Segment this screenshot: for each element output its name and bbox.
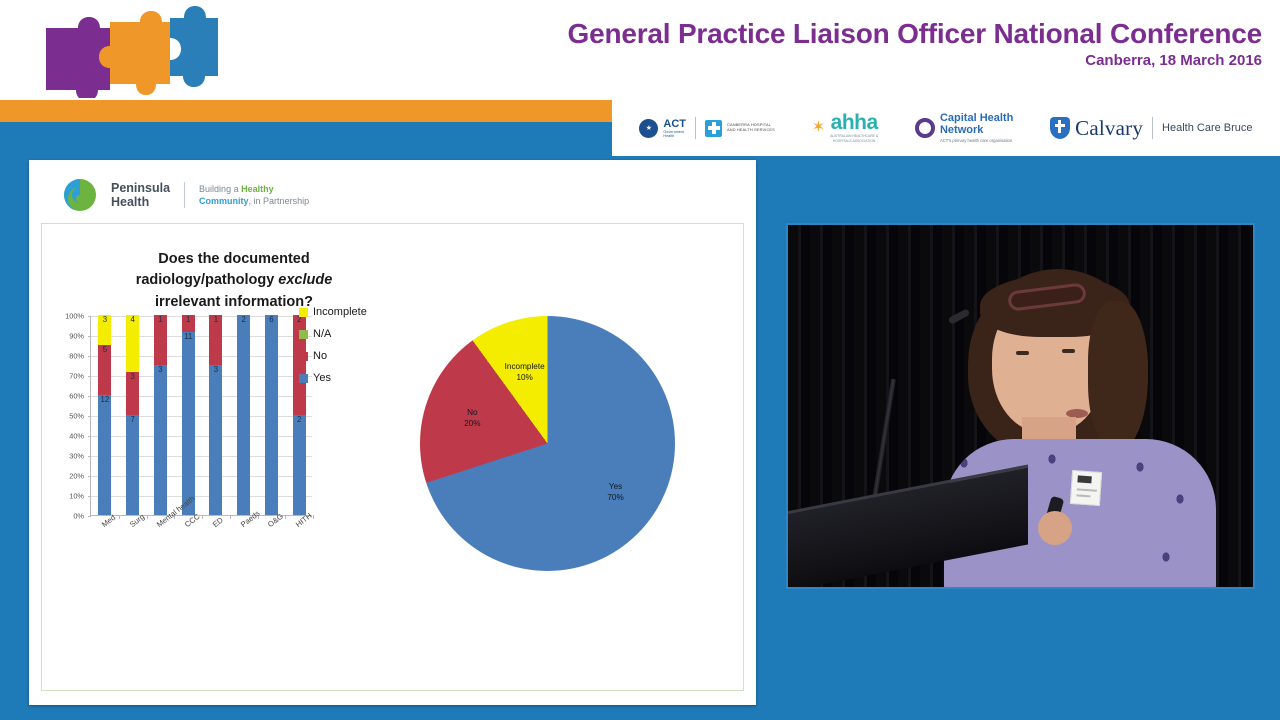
bar-value-label: 12 (98, 396, 111, 404)
calvary-sub-label: Health Care Bruce (1162, 122, 1253, 134)
act-tertiary-label: Health (663, 134, 686, 138)
tagline-blue: Community (199, 196, 249, 206)
bar-segment-no[interactable]: 1 (182, 315, 195, 332)
sponsor-act-government: ★ ACT Government Health CANBERRA HOSPITA… (639, 117, 775, 139)
bar-value-label: 3 (154, 366, 167, 374)
bar-value-label: 2 (237, 316, 250, 324)
speaker-eye-left (1016, 351, 1029, 355)
bar-segment-no[interactable]: 1 (209, 315, 222, 365)
peninsula-health-logo: Peninsula Health Building a Healthy Comm… (63, 178, 309, 212)
bar-segment-yes[interactable]: 3 (154, 365, 167, 515)
bar-segment-incomplete[interactable]: 3 (98, 315, 111, 345)
conference-subtitle: Canberra, 18 March 2016 (1085, 52, 1262, 69)
badge-line-1 (1077, 488, 1097, 491)
y-tick-mark (88, 376, 91, 377)
bar-value-label: 3 (126, 373, 139, 381)
bar-value-label: 1 (209, 316, 222, 324)
legend-label: Incomplete (313, 306, 367, 318)
y-tick-mark (88, 516, 91, 517)
bar-segment-no[interactable]: 3 (126, 372, 139, 415)
bar-segment-yes[interactable]: 12 (98, 395, 111, 515)
legend-item-na[interactable]: N/A (299, 328, 367, 340)
gridline (91, 496, 312, 497)
y-tick-mark (88, 396, 91, 397)
chn-line2: Network (940, 125, 1013, 137)
y-axis-tick: 30% (69, 452, 84, 461)
chn-line1: Capital Health (940, 113, 1013, 125)
bar-segment-incomplete[interactable]: 4 (126, 315, 139, 372)
pie-slice-label-yes: Yes70% (586, 482, 646, 503)
speaker-hair-side (1088, 301, 1148, 451)
bar-segment-yes[interactable]: 11 (182, 332, 195, 515)
peninsula-health-tagline: Building a Healthy Community, in Partner… (199, 183, 309, 207)
x-tick-mark (147, 515, 148, 519)
y-axis-tick: 80% (69, 352, 84, 361)
x-tick-mark (202, 515, 203, 519)
y-axis-tick: 90% (69, 332, 84, 341)
y-axis-tick: 20% (69, 472, 84, 481)
act-crest-icon: ★ (639, 119, 658, 138)
peninsula-health-mark-icon (63, 178, 97, 212)
y-axis-tick: 50% (69, 412, 84, 421)
y-axis-tick: 0% (73, 512, 84, 521)
y-tick-mark (88, 496, 91, 497)
ahha-sub1: AUSTRALIAN HEALTHCARE & (830, 134, 878, 138)
badge-line-2 (1076, 494, 1090, 497)
tagline-pre: Building a (199, 184, 241, 194)
bar-segment-yes[interactable]: 6 (265, 315, 278, 515)
legend-swatch (299, 352, 308, 361)
bar-segment-yes[interactable]: 7 (126, 415, 139, 515)
gridline (91, 396, 312, 397)
y-axis-tick: 60% (69, 392, 84, 401)
chart-title-emphasis: exclude (278, 272, 332, 288)
bar-value-label: 3 (209, 366, 222, 374)
act-label: ACT (663, 119, 686, 130)
name-badge (1070, 470, 1102, 506)
bar-segment-yes[interactable]: 2 (293, 415, 306, 515)
slide-panel[interactable]: Peninsula Health Building a Healthy Comm… (29, 160, 756, 705)
bar-segment-yes[interactable]: 2 (237, 315, 250, 515)
x-tick-mark (285, 515, 286, 519)
presentation-viewer: General Practice Liaison Officer Nationa… (0, 0, 1280, 720)
peninsula-health-name: Peninsula Health (111, 181, 170, 209)
ahha-label: ahha (830, 113, 878, 133)
sponsor-calvary: Calvary Health Care Bruce (1050, 116, 1252, 141)
y-tick-mark (88, 456, 91, 457)
bar-value-label: 3 (98, 316, 111, 324)
pie-label-name: No (467, 408, 477, 417)
pie-slice-label-no: No20% (442, 408, 502, 429)
bar-column[interactable]: 31 (154, 316, 167, 515)
tagline-post: , in Partnership (249, 196, 310, 206)
sponsor-capital-health-network: Capital Health Network ACT's primary hea… (915, 113, 1013, 143)
chart-title-line2a: radiology/pathology (136, 272, 279, 288)
bar-value-label: 4 (126, 316, 139, 324)
pie-label-value: 20% (464, 419, 480, 428)
pie-label-value: 10% (516, 373, 532, 382)
bar-value-label: 2 (293, 416, 306, 424)
bar-chart-legend: IncompleteN/ANoYes (299, 306, 367, 394)
act-sub-label: Government (663, 130, 686, 134)
pie-label-name: Yes (609, 482, 622, 491)
speaker-eye-right (1062, 349, 1075, 353)
puzzle-pieces-logo (32, 4, 222, 98)
calvary-label: Calvary (1075, 116, 1143, 141)
chn-ring-icon (915, 118, 935, 138)
y-tick-mark (88, 476, 91, 477)
chart-title-line3: irrelevant information? (155, 294, 313, 310)
conference-header: General Practice Liaison Officer Nationa… (0, 0, 1280, 100)
legend-swatch (299, 374, 308, 383)
ph-logo-divider (184, 182, 185, 208)
sunburst-icon: ✶ (812, 123, 825, 133)
pie-label-value: 70% (607, 493, 623, 502)
bar-value-label: 6 (265, 316, 278, 324)
gridline (91, 416, 312, 417)
y-tick-mark (88, 336, 91, 337)
legend-item-incomplete[interactable]: Incomplete (299, 306, 367, 318)
bar-column[interactable]: 1253 (98, 316, 111, 515)
y-axis-tick: 10% (69, 492, 84, 501)
gridline (91, 476, 312, 477)
legend-label: No (313, 350, 327, 362)
pie-chart-circle (420, 316, 675, 571)
gridline (91, 436, 312, 437)
bar-chart-plot-area: 125373431111312622 (90, 316, 312, 516)
bar-chart-y-axis: 0%10%20%30%40%50%60%70%80%90%100% (58, 316, 88, 516)
legend-swatch (299, 330, 308, 339)
x-tick-mark (230, 515, 231, 519)
y-axis-tick: 70% (69, 372, 84, 381)
ph-line1: Peninsula (111, 181, 170, 195)
gridline (91, 316, 312, 317)
y-tick-mark (88, 356, 91, 357)
pie-label-name: Incomplete (505, 362, 545, 371)
chn-tagline: ACT's primary health care organisation (940, 138, 1013, 143)
bar-column[interactable]: 734 (126, 316, 139, 515)
badge-logo-icon (1077, 475, 1091, 483)
y-axis-tick: 100% (65, 312, 84, 321)
sponsor-logo-strip: ★ ACT Government Health CANBERRA HOSPITA… (612, 100, 1280, 156)
slide-content-frame: Does the documented radiology/pathology … (41, 223, 744, 691)
y-axis-tick: 40% (69, 432, 84, 441)
conference-speaker-video[interactable] (786, 223, 1255, 589)
legend-label: Yes (313, 372, 331, 384)
gridline (91, 336, 312, 337)
legend-label: N/A (313, 328, 331, 340)
legend-item-no[interactable]: No (299, 350, 367, 362)
bar-column[interactable]: 31 (209, 316, 222, 515)
ph-line2: Health (111, 195, 170, 209)
bar-value-label: 5 (98, 346, 111, 354)
bar-column[interactable]: 2 (237, 316, 250, 515)
speaker-hand (1038, 511, 1072, 545)
hospital-cross-icon (705, 120, 722, 137)
y-tick-mark (88, 316, 91, 317)
bar-column[interactable]: 111 (182, 316, 195, 515)
calvary-shield-icon (1050, 117, 1070, 139)
x-tick-mark (119, 515, 120, 519)
bar-value-label: 1 (182, 316, 195, 324)
legend-swatch (299, 308, 308, 317)
chs-line2: AND HEALTH SERVICES (727, 128, 775, 133)
x-axis-label: ED (211, 515, 225, 529)
pie-chart: Yes70%No20%Incomplete10% (420, 316, 680, 576)
stacked-bar-chart: 0%10%20%30%40%50%60%70%80%90%100% 125373… (58, 316, 333, 566)
calvary-divider (1152, 117, 1153, 139)
sponsor-divider (695, 117, 696, 139)
gridline (91, 456, 312, 457)
bar-value-label: 7 (126, 416, 139, 424)
chart-title-line1: Does the documented (158, 251, 309, 267)
gridline (91, 376, 312, 377)
gridline (91, 356, 312, 357)
tagline-green: Healthy (241, 184, 274, 194)
bar-column[interactable]: 6 (265, 316, 278, 515)
ahha-sub2: HOSPITALS ASSOCIATION (830, 139, 878, 143)
sponsor-ahha: ✶ ahha AUSTRALIAN HEALTHCARE & HOSPITALS… (812, 113, 878, 143)
conference-title: General Practice Liaison Officer Nationa… (568, 18, 1263, 50)
chart-title: Does the documented radiology/pathology … (104, 249, 364, 313)
pie-slice-label-incomplete: Incomplete10% (495, 362, 555, 383)
bar-segment-yes[interactable]: 3 (209, 365, 222, 515)
y-tick-mark (88, 436, 91, 437)
bar-value-label: 1 (154, 316, 167, 324)
legend-item-yes[interactable]: Yes (299, 372, 367, 384)
bar-segment-no[interactable]: 1 (154, 315, 167, 365)
y-tick-mark (88, 416, 91, 417)
bar-segment-no[interactable]: 5 (98, 345, 111, 395)
bar-value-label: 11 (182, 333, 195, 341)
